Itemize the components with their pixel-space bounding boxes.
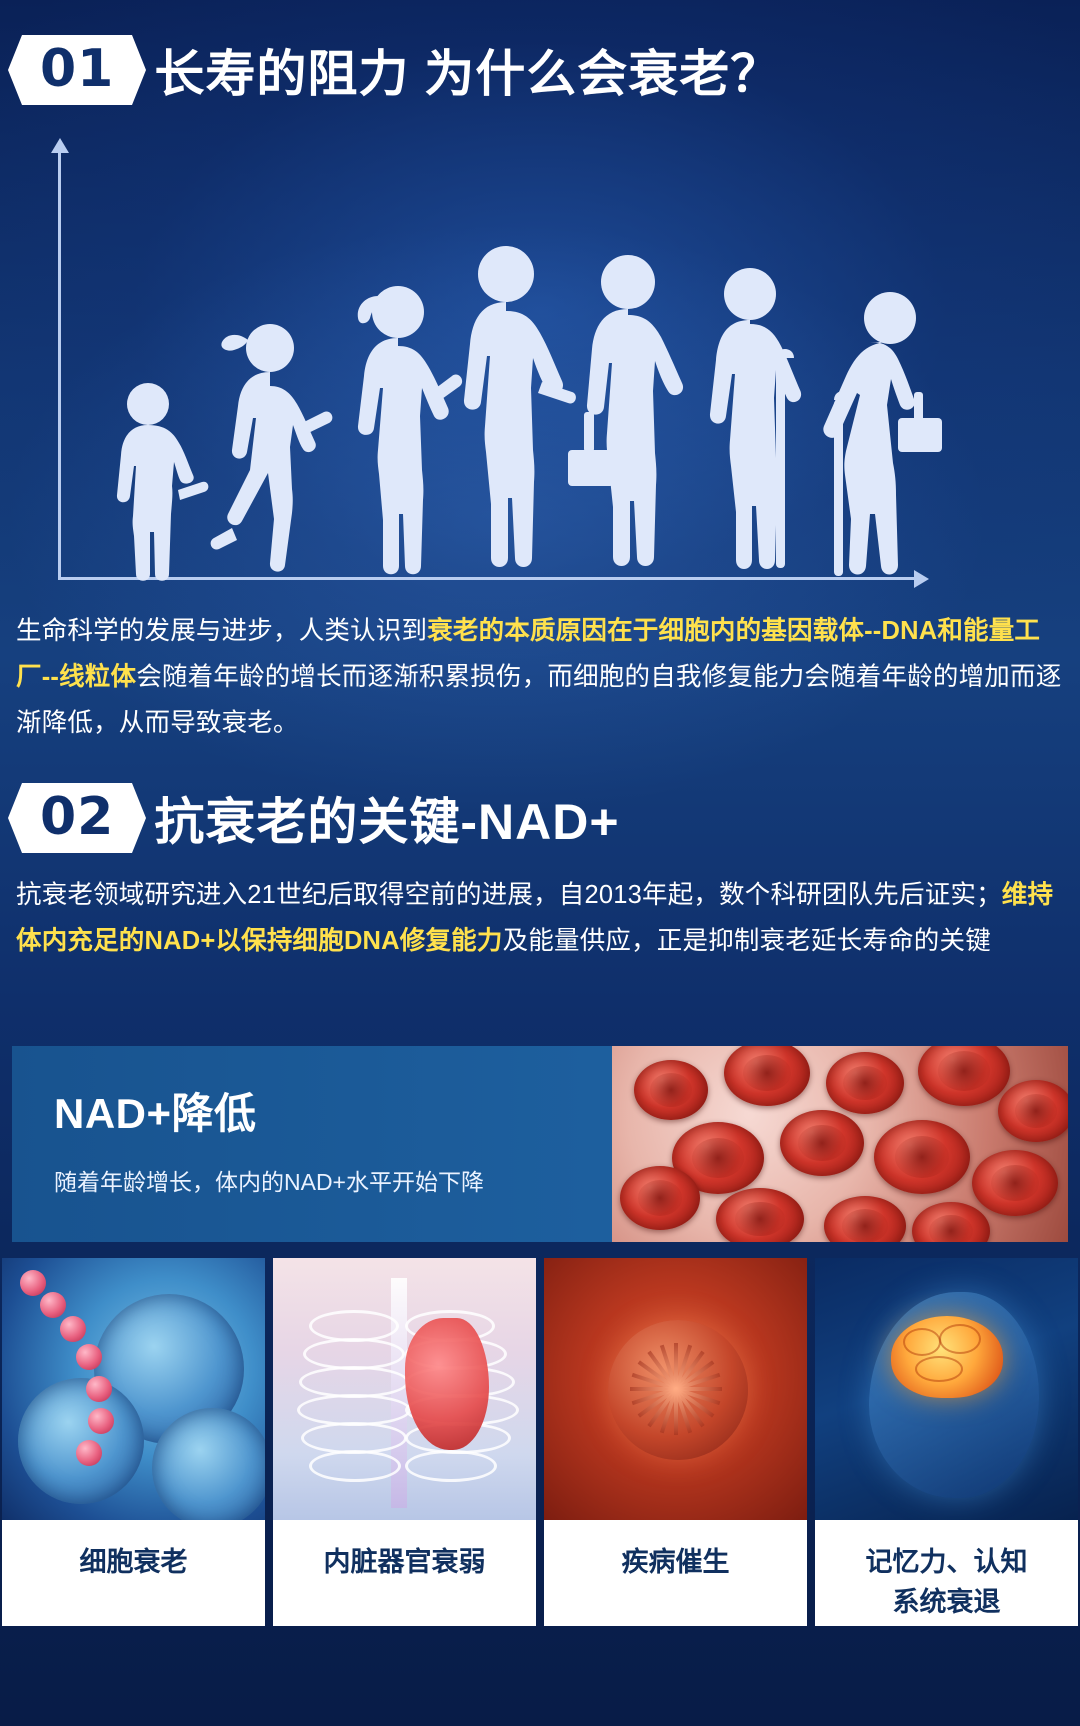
- nad-card-subtitle: 随着年龄增长，体内的NAD+水平开始下降: [54, 1163, 612, 1197]
- paragraph-01-part-3: 会随着年龄的增长而逐渐积累损伤，而细胞的自我修复能力会随着年龄的增加而逐渐降低，…: [16, 663, 1061, 737]
- nad-card-text: NAD+降低 随着年龄增长，体内的NAD+水平开始下降: [12, 1046, 612, 1242]
- organ-xray-photo: [273, 1258, 536, 1520]
- nad-card-title: NAD+降低: [54, 1080, 612, 1141]
- thumbnail-card-1: 细胞衰老: [2, 1258, 265, 1626]
- nad-decline-card: NAD+降低 随着年龄增长，体内的NAD+水平开始下降: [12, 1046, 1068, 1242]
- thumbnail-card-2: 内脏器官衰弱: [273, 1258, 536, 1626]
- thumbnail-card-3: 疾病催生: [544, 1258, 807, 1626]
- chart-y-axis: [58, 150, 61, 580]
- paragraph-01: 生命科学的发展与进步，人类认识到衰老的本质原因在于细胞内的基因载体--DNA和能…: [16, 608, 1066, 746]
- virus-photo: [544, 1258, 807, 1520]
- aging-cell-photo: [2, 1258, 265, 1520]
- silhouette-stage-2: [208, 322, 348, 582]
- consequence-thumbnail-row: 细胞衰老 内脏器官衰弱: [0, 1258, 1080, 1626]
- section-title-01: 长寿的阻力 为什么会衰老？: [154, 34, 781, 106]
- brain-scan-photo: [815, 1258, 1078, 1520]
- paragraph-02-part-3: 及能量供应，正是抑制衰老延长寿命的关键: [503, 927, 991, 955]
- section-heading-02: 02 抗衰老的关键-NAD+: [22, 782, 620, 854]
- silhouette-stage-1: [100, 382, 210, 582]
- thumbnail-caption-2: 内脏器官衰弱: [273, 1520, 536, 1626]
- section-title-02: 抗衰老的关键-NAD+: [154, 782, 619, 854]
- paragraph-02-part-1: 抗衰老领域研究进入21世纪后取得空前的进展，自2013年起，数个科研团队先后证实…: [16, 881, 1002, 909]
- paragraph-01-part-1: 生命科学的发展与进步，人类认识到: [16, 617, 427, 645]
- infographic-page: 01 长寿的阻力 为什么会衰老？: [0, 0, 1080, 1726]
- silhouette-stage-7: [794, 282, 964, 582]
- section-number-badge-01: 01: [22, 35, 132, 105]
- section-number-badge-02: 02: [22, 783, 132, 853]
- section-heading-01: 01 长寿的阻力 为什么会衰老？: [22, 34, 781, 106]
- thumbnail-caption-4: 记忆力、认知 系统衰退: [815, 1520, 1078, 1626]
- thumbnail-card-4: 记忆力、认知 系统衰退: [815, 1258, 1078, 1626]
- thumbnail-caption-1: 细胞衰老: [2, 1520, 265, 1626]
- red-blood-cells-photo: [612, 1046, 1068, 1242]
- aging-stages-illustration: [30, 140, 1050, 600]
- paragraph-02: 抗衰老领域研究进入21世纪后取得空前的进展，自2013年起，数个科研团队先后证实…: [16, 872, 1066, 964]
- chart-y-axis-arrow-icon: [51, 138, 69, 153]
- thumbnail-caption-3: 疾病催生: [544, 1520, 807, 1626]
